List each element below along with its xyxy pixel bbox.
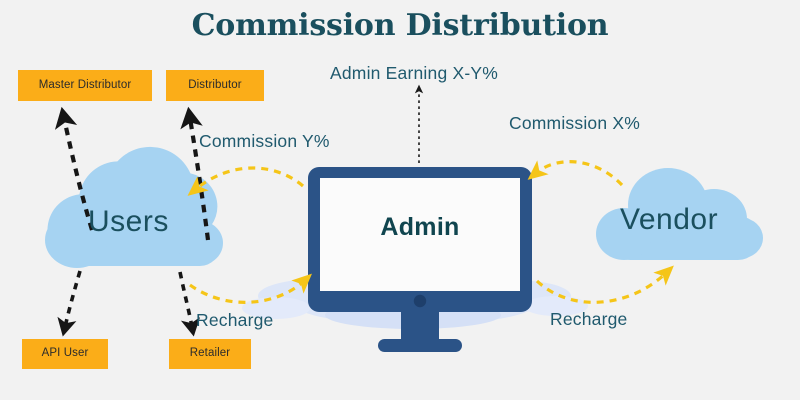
arrow-commission-y: [196, 168, 303, 189]
node-api-user[interactable]: API User: [22, 339, 108, 369]
flow-label-recharge-left: Recharge: [196, 310, 273, 331]
flow-label-commission-x: Commission X%: [509, 113, 640, 134]
node-admin-label: Admin: [310, 213, 530, 242]
node-distributor[interactable]: Distributor: [166, 70, 264, 101]
arrow-users-to-retailer: [180, 272, 192, 327]
node-users-label: Users: [88, 205, 169, 239]
flow-label-commission-y: Commission Y%: [199, 131, 330, 152]
flow-label-recharge-right: Recharge: [550, 309, 627, 330]
flow-label-admin-earning: Admin Earning X-Y%: [330, 63, 498, 84]
node-retailer[interactable]: Retailer: [169, 339, 251, 369]
node-vendor-label: Vendor: [620, 203, 718, 237]
arrow-commission-x: [536, 162, 622, 185]
commission-distribution-diagram: Commission Distribution Master Distribut…: [0, 0, 800, 400]
admin-monitor-shape: [308, 167, 532, 352]
diagram-graphics-layer: [0, 0, 800, 400]
node-master-distributor[interactable]: Master Distributor: [18, 70, 152, 101]
page-title: Commission Distribution: [0, 8, 800, 43]
arrow-users-to-api-user: [65, 271, 80, 327]
